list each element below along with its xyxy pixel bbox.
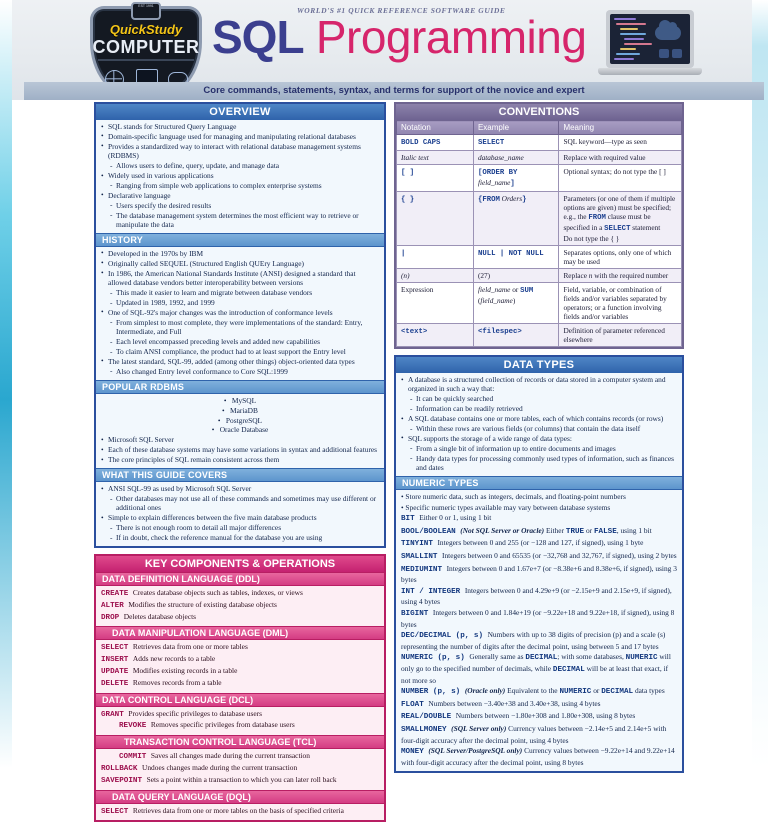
list-item: The core principles of SQL remain consis…: [101, 455, 379, 464]
list-item: The database management system determine…: [101, 211, 379, 230]
data-type-description: Equivalent to the NUMERIC or DECIMAL dat…: [507, 686, 665, 695]
key-components-group-body: GRANT Provides specific privileges to da…: [96, 707, 384, 736]
conventions-body: BOLD CAPSSELECTSQL keyword—type as seenI…: [397, 135, 682, 347]
data-type-entry: BIGINT Integers between 0 and 1.84e+19 (…: [401, 608, 677, 629]
page-title: SQL Programming: [212, 14, 586, 60]
data-type-entry: INT / INTEGER Integers between 0 and 4.2…: [401, 586, 677, 607]
key-components-group-heading: DATA MANIPULATION LANGUAGE (DML): [96, 626, 384, 640]
command-entry: REVOKE Removes specific privileges from …: [101, 720, 379, 732]
command-keyword: ALTER: [101, 602, 128, 610]
cloud-icon: [655, 26, 681, 40]
convention-meaning: Replace n with the required number: [559, 269, 682, 283]
data-type-keyword: DEC/DECIMAL (p, s): [401, 632, 488, 640]
convention-notation: BOLD CAPS: [397, 135, 474, 151]
command-keyword: DROP: [101, 614, 124, 622]
convention-notation: Expression: [397, 283, 474, 324]
list-item: SQL stands for Structured Query Language: [101, 122, 379, 131]
convention-meaning: SQL keyword—type as seen: [559, 135, 682, 151]
command-keyword: REVOKE: [119, 722, 151, 730]
data-type-entry: MEDIUMINT Integers between 0 and 1.67e+7…: [401, 564, 677, 585]
guide-covers-list: ANSI SQL-99 as used by Microsoft SQL Ser…: [101, 484, 379, 542]
convention-example: [ORDER BY field_name]: [473, 165, 559, 192]
list-item: Developed in the 1970s by IBM: [101, 249, 379, 258]
command-description: Adds new records to a table: [133, 654, 215, 663]
data-type-description: Numbers between −1.80e+308 and 1.80e+308…: [456, 711, 636, 720]
data-type-keyword: NUMERIC (p, s): [401, 654, 469, 662]
key-components-group-body: SELECT Retrieves data from one or more t…: [96, 640, 384, 692]
data-type-note: (SQL Server/PostgreSQL only): [428, 746, 524, 755]
data-type-entry: REAL/DOUBLE Numbers between −1.80e+308 a…: [401, 711, 677, 723]
convention-example: {FROM Orders}: [473, 192, 559, 246]
history-body: Developed in the 1970s by IBMOriginally …: [96, 247, 384, 380]
command-keyword: INSERT: [101, 656, 133, 664]
command-entry: GRANT Provides specific privileges to da…: [101, 709, 379, 721]
data-types-body: A database is a structured collection of…: [396, 373, 682, 476]
key-components-group-body: COMMIT Saves all changes made during the…: [96, 749, 384, 789]
conventions-header-row: Notation Example Meaning: [397, 121, 682, 135]
convention-meaning: Replace with required value: [559, 151, 682, 165]
list-item: Declarative language: [101, 191, 379, 200]
command-description: Creates database objects such as tables,…: [133, 588, 303, 597]
convention-example: field_name or SUM (field_name): [473, 283, 559, 324]
list-item: Updated in 1989, 1992, and 1999: [101, 298, 379, 307]
right-edge-gradient: [752, 0, 768, 768]
overview-heading: OVERVIEW: [96, 104, 384, 120]
command-entry: SELECT Retrieves data from one or more t…: [101, 642, 379, 654]
command-entry: ALTER Modifies the structure of existing…: [101, 600, 379, 612]
title-programming: Programming: [304, 11, 587, 63]
conventions-panel: CONVENTIONS Notation Example Meaning BOL…: [394, 102, 684, 349]
data-type-keyword: BIGINT: [401, 610, 433, 618]
list-item: This made it easier to learn and migrate…: [101, 288, 379, 297]
convention-notation: { }: [397, 192, 474, 246]
database-icon-left: [659, 49, 669, 58]
data-type-note: (Oracle only): [465, 686, 507, 695]
page-header: EST 1991 QuickStudy COMPUTER WORLD'S #1 …: [12, 0, 752, 100]
key-components-panel: KEY COMPONENTS & OPERATIONS DATA DEFINIT…: [94, 554, 386, 822]
list-item: In 1986, the American National Standards…: [101, 269, 379, 288]
content-columns: OVERVIEW SQL stands for Structured Query…: [12, 100, 752, 768]
list-item: A database is a structured collection of…: [401, 375, 677, 394]
title-sql: SQL: [212, 11, 304, 63]
data-type-description: Integers between 0 and 255 (or −128 and …: [437, 538, 643, 547]
popular-rdbms-heading: POPULAR RDBMS: [96, 380, 384, 394]
data-type-keyword: NUMBER (p, s): [401, 688, 465, 696]
key-components-group-heading: TRANSACTION CONTROL LANGUAGE (TCL): [96, 735, 384, 749]
command-description: Saves all changes made during the curren…: [151, 751, 310, 760]
data-type-keyword: BIT: [401, 515, 419, 523]
list-item: A SQL database contains one or more tabl…: [401, 414, 677, 423]
database-icon-right: [672, 49, 682, 58]
command-description: Retrieves data from one or more tables: [133, 642, 248, 651]
right-column: CONVENTIONS Notation Example Meaning BOL…: [394, 102, 684, 779]
command-entry: SAVEPOINT Sets a point within a transact…: [101, 775, 379, 787]
convention-example: (27): [473, 269, 559, 283]
numeric-types-entries: BIT Either 0 or 1, using 1 bitBOOL/BOOLE…: [401, 513, 677, 767]
numeric-types-body: • Store numeric data, such as integers, …: [396, 490, 682, 771]
data-type-entry: SMALLINT Integers between 0 and 65535 (o…: [401, 551, 677, 563]
command-entry: SELECT Retrieves data from one or more t…: [101, 806, 379, 818]
key-components-group-heading: DATA DEFINITION LANGUAGE (DDL): [96, 572, 384, 586]
overview-body: SQL stands for Structured Query Language…: [96, 120, 384, 233]
key-components-groups: DATA DEFINITION LANGUAGE (DDL)CREATE Cre…: [96, 572, 384, 820]
data-type-description: Integers between 0 and 1.84e+19 (or −9.2…: [401, 608, 674, 629]
key-components-group-body: CREATE Creates database objects such as …: [96, 586, 384, 626]
list-item: From simplest to most complete, they wer…: [101, 318, 379, 337]
convention-meaning: Definition of parameter referenced elsew…: [559, 324, 682, 347]
data-type-entry: BOOL/BOOLEAN (Not SQL Server or Oracle) …: [401, 526, 677, 538]
command-keyword: SELECT: [101, 808, 133, 816]
command-entry: DELETE Removes records from a table: [101, 678, 379, 690]
data-type-keyword: INT / INTEGER: [401, 588, 465, 596]
data-type-keyword: REAL/DOUBLE: [401, 713, 456, 721]
key-components-heading: KEY COMPONENTS & OPERATIONS: [96, 556, 384, 572]
data-type-entry: MONEY (SQL Server/PostgreSQL only) Curre…: [401, 746, 677, 767]
badge-category-label: COMPUTER: [90, 37, 202, 58]
list-item: To claim ANSI compliance, the product ha…: [101, 347, 379, 356]
list-item: Widely used in various applications: [101, 171, 379, 180]
convention-example: <filespec>: [473, 324, 559, 347]
list-item: PostgreSQL: [101, 416, 379, 425]
data-type-description: Integers between 0 and 65535 (or −32,768…: [442, 551, 677, 560]
conventions-col-notation: Notation: [397, 121, 474, 135]
convention-example: NULL | NOT NULL: [473, 246, 559, 269]
data-type-description: Either 0 or 1, using 1 bit: [419, 513, 491, 522]
data-types-panel: DATA TYPES A database is a structured co…: [394, 355, 684, 773]
command-keyword: CREATE: [101, 590, 133, 598]
command-description: Modifies the structure of existing datab…: [128, 600, 277, 609]
data-type-entry: NUMERIC (p, s) Generally same as DECIMAL…: [401, 652, 677, 685]
convention-meaning: Parameters (or one of them if multiple o…: [559, 192, 682, 246]
quickstudy-sql-reference-page: BARCHARTS BARCHARTS EST 1991 QuickStudy …: [0, 0, 768, 768]
conventions-heading: CONVENTIONS: [396, 104, 682, 120]
command-description: Modifies existing records in a table: [133, 666, 237, 675]
list-item: Oracle Database: [101, 425, 379, 434]
command-description: Deletes database objects: [124, 612, 196, 621]
table-row: Expressionfield_name or SUM (field_name)…: [397, 283, 682, 324]
popular-rdbms-list: MySQLMariaDBPostgreSQLOracle DatabaseMic…: [101, 396, 379, 465]
command-entry: UPDATE Modifies existing records in a ta…: [101, 666, 379, 678]
key-components-group-heading: DATA QUERY LANGUAGE (DQL): [96, 790, 384, 804]
left-column: OVERVIEW SQL stands for Structured Query…: [94, 102, 386, 822]
list-item: Provides a standardized way to interact …: [101, 142, 379, 161]
numeric-types-heading: NUMERIC TYPES: [396, 476, 682, 490]
data-type-keyword: BOOL/BOOLEAN: [401, 528, 460, 536]
convention-example: database_name: [473, 151, 559, 165]
data-type-note: (Not SQL Server or Oracle): [460, 526, 546, 535]
data-type-entry: NUMBER (p, s) (Oracle only) Equivalent t…: [401, 686, 677, 698]
data-type-description: Either TRUE or FALSE, using 1 bit: [546, 526, 652, 535]
list-item: If in doubt, check the reference manual …: [101, 533, 379, 542]
data-type-entry: DEC/DECIMAL (p, s) Numbers with up to 38…: [401, 630, 677, 651]
convention-notation: |: [397, 246, 474, 269]
command-entry: DROP Deletes database objects: [101, 612, 379, 624]
conventions-table: Notation Example Meaning BOLD CAPSSELECT…: [396, 120, 682, 347]
data-type-entry: SMALLMONEY (SQL Server only) Currency va…: [401, 724, 677, 745]
command-entry: CREATE Creates database objects such as …: [101, 588, 379, 600]
command-keyword: ROLLBACK: [101, 765, 142, 773]
convention-meaning: Separates options, only one of which may…: [559, 246, 682, 269]
command-entry: ROLLBACK Undoes changes made during the …: [101, 763, 379, 775]
list-item: Domain-specific language used for managi…: [101, 132, 379, 141]
command-entry: INSERT Adds new records to a table: [101, 654, 379, 666]
list-item: Each of these database systems may have …: [101, 445, 379, 454]
history-list: Developed in the 1970s by IBMOriginally …: [101, 249, 379, 376]
subtitle-bar: Core commands, statements, syntax, and t…: [24, 82, 764, 100]
table-row: <text><filespec>Definition of parameter …: [397, 324, 682, 347]
list-item: Handy data types for processing commonly…: [401, 454, 677, 473]
command-entry: COMMIT Saves all changes made during the…: [101, 751, 379, 763]
key-components-group-body: SELECT Retrieves data from one or more t…: [96, 804, 384, 821]
list-item: It can be quickly searched: [401, 394, 677, 403]
list-item: Simple to explain differences between th…: [101, 513, 379, 522]
list-item: Other databases may not use all of these…: [101, 494, 379, 513]
data-type-keyword: TINYINT: [401, 540, 437, 548]
data-type-keyword: MEDIUMINT: [401, 566, 447, 574]
command-keyword: SAVEPOINT: [101, 777, 147, 785]
numeric-types-bullets: • Store numeric data, such as integers, …: [401, 492, 677, 512]
list-item: MySQL: [101, 396, 379, 405]
list-item: Originally called SEQUEL (Structured Eng…: [101, 259, 379, 268]
table-row: Italic textdatabase_nameReplace with req…: [397, 151, 682, 165]
list-item: ANSI SQL-99 as used by Microsoft SQL Ser…: [101, 484, 379, 493]
convention-meaning: Field, variable, or combination of field…: [559, 283, 682, 324]
list-item: One of SQL-92's major changes was the in…: [101, 308, 379, 317]
page-subtitle: Core commands, statements, syntax, and t…: [24, 85, 764, 96]
command-description: Retrieves data from one or more tables o…: [133, 806, 344, 815]
guide-covers-heading: WHAT THIS GUIDE COVERS: [96, 468, 384, 482]
history-heading: HISTORY: [96, 233, 384, 247]
badge-brand-label: QuickStudy: [90, 22, 202, 37]
command-description: Sets a point within a transaction to whi…: [147, 775, 337, 784]
list-item: The latest standard, SQL-99, added (amon…: [101, 357, 379, 366]
key-components-group-heading: DATA CONTROL LANGUAGE (DCL): [96, 693, 384, 707]
laptop-illustration: [598, 10, 702, 90]
data-type-note: (SQL Server only): [451, 724, 508, 733]
popular-rdbms-body: MySQLMariaDBPostgreSQLOracle DatabaseMic…: [96, 394, 384, 468]
table-row: { }{FROM Orders}Parameters (or one of th…: [397, 192, 682, 246]
list-item: SQL supports the storage of a wide range…: [401, 434, 677, 443]
conventions-col-example: Example: [473, 121, 559, 135]
laptop-base: [598, 68, 702, 75]
list-item: Users specify the desired results: [101, 201, 379, 210]
list-item: MariaDB: [101, 406, 379, 415]
list-item: Ranging from simple web applications to …: [101, 181, 379, 190]
laptop-screen: [610, 14, 690, 64]
list-item: Information can be readily retrieved: [401, 404, 677, 413]
guide-covers-body: ANSI SQL-99 as used by Microsoft SQL Ser…: [96, 482, 384, 546]
command-description: Removes records from a table: [133, 678, 222, 687]
convention-example: SELECT: [473, 135, 559, 151]
list-item: Microsoft SQL Server: [101, 435, 379, 444]
badge-top-tab: EST 1991: [131, 2, 161, 20]
convention-notation: (n): [397, 269, 474, 283]
table-row: [ ][ORDER BY field_name]Optional syntax;…: [397, 165, 682, 192]
convention-notation: [ ]: [397, 165, 474, 192]
convention-notation: Italic text: [397, 151, 474, 165]
list-item: Allows users to define, query, update, a…: [101, 161, 379, 170]
data-type-keyword: SMALLMONEY: [401, 726, 451, 734]
badge-divider: [98, 59, 194, 61]
data-type-keyword: FLOAT: [401, 701, 428, 709]
command-keyword: COMMIT: [119, 753, 151, 761]
command-keyword: GRANT: [101, 711, 128, 719]
data-type-description: Numbers between −3.40e+38 and 3.40e+38, …: [428, 699, 600, 708]
conventions-col-meaning: Meaning: [559, 121, 682, 135]
data-types-heading: DATA TYPES: [396, 357, 682, 373]
command-description: Provides specific privileges to database…: [128, 709, 262, 718]
convention-notation: <text>: [397, 324, 474, 347]
list-item: • Store numeric data, such as integers, …: [401, 492, 677, 502]
list-item: From a single bit of information up to e…: [401, 444, 677, 453]
left-edge-gradient: [0, 0, 12, 768]
data-type-keyword: SMALLINT: [401, 553, 442, 561]
list-item: • Specific numeric types available may v…: [401, 503, 677, 513]
command-keyword: SELECT: [101, 644, 133, 652]
command-description: Removes specific privileges from databas…: [151, 720, 295, 729]
command-keyword: UPDATE: [101, 668, 133, 676]
data-type-entry: TINYINT Integers between 0 and 255 (or −…: [401, 538, 677, 550]
table-row: BOLD CAPSSELECTSQL keyword—type as seen: [397, 135, 682, 151]
command-keyword: DELETE: [101, 680, 133, 688]
data-type-entry: BIT Either 0 or 1, using 1 bit: [401, 513, 677, 525]
laptop-lid: [606, 10, 694, 68]
list-item: Each level encompassed preceding levels …: [101, 337, 379, 346]
convention-meaning: Optional syntax; do not type the [ ]: [559, 165, 682, 192]
overview-panel: OVERVIEW SQL stands for Structured Query…: [94, 102, 386, 548]
list-item: Within these rows are various fields (or…: [401, 424, 677, 433]
list-item: There is not enough room to detail all m…: [101, 523, 379, 532]
data-type-keyword: MONEY: [401, 748, 428, 756]
table-row: (n)(27)Replace n with the required numbe…: [397, 269, 682, 283]
data-types-list: A database is a structured collection of…: [401, 375, 677, 473]
overview-list: SQL stands for Structured Query Language…: [101, 122, 379, 229]
table-row: |NULL | NOT NULLSeparates options, only …: [397, 246, 682, 269]
list-item: Also changed Entry level conformance to …: [101, 367, 379, 376]
data-type-entry: FLOAT Numbers between −3.40e+38 and 3.40…: [401, 699, 677, 711]
